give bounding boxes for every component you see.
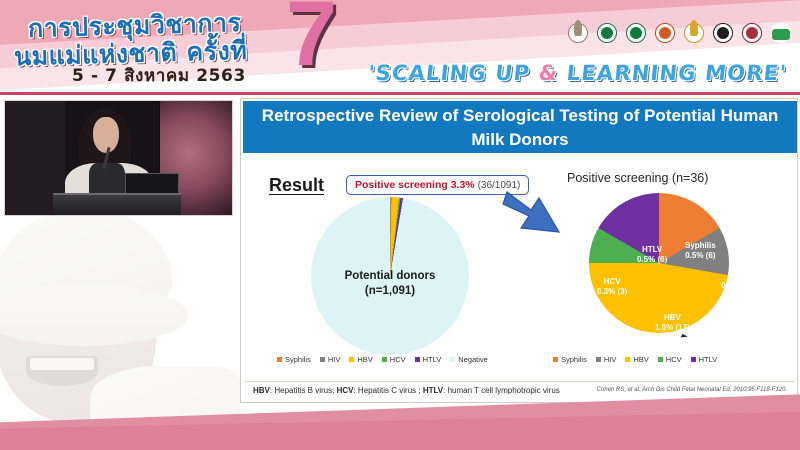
legend-label-hcv-right: HCV: [666, 355, 682, 364]
legend-label-syphilis-right: Syphilis: [561, 355, 587, 364]
ministry-public-health-logo: [595, 23, 619, 51]
slice-label-hiv-value: 0.4% (4): [721, 281, 751, 291]
slide-capture-stage: การประชุมวิชาการ นมแม่แห่งชาติ ครั้งที่ …: [0, 0, 800, 450]
laptop-icon: [125, 173, 179, 195]
legend-label-hbv-right: HBV: [633, 355, 648, 364]
tagline-text-part2: LEARNING MORE': [557, 61, 788, 85]
slice-label-syphilis-value: 0.5% (6): [685, 251, 716, 261]
footnote-htlv-key: HTLV: [423, 386, 443, 395]
sponsor-logo-row: [566, 23, 793, 51]
callout-strong-text: Positive screening 3.3%: [355, 179, 475, 191]
legend-swatch-hbv: [349, 357, 354, 362]
footnote-hbv-key: HBV: [253, 386, 270, 395]
thai-health-sso-logo: [769, 23, 793, 51]
legend-label-hiv-right: HIV: [604, 355, 617, 364]
watermark-mouth: [26, 356, 98, 386]
legend-swatch-negative: [450, 357, 455, 362]
slice-label-htlv: HTLV 0.5% (6): [637, 245, 667, 265]
footnote-abbreviations: HBV: Hepatitis B virus; HCV: Hepatitis C…: [253, 386, 560, 395]
nursing-council-logo: [711, 23, 735, 51]
watermark-hat-brim: [0, 284, 188, 346]
legend-swatch-hcv: [382, 357, 387, 362]
legend-item-hbv-right: HBV: [625, 355, 648, 364]
legend-item-syphilis-right: Syphilis: [553, 355, 587, 364]
breastfeeding-foundation-logo: [740, 23, 764, 51]
slice-label-hiv-name: HIV: [721, 271, 751, 281]
legend-item-htlv-right: HTLV: [691, 355, 718, 364]
positive-screening-pie-graphic: Syphilis 0.5% (6) HIV 0.4% (4) HBV 1.6% …: [589, 193, 729, 333]
positive-screening-legend: Syphilis HIV HBV HCV HTLV: [553, 355, 717, 364]
royal-emblem-logo: [566, 23, 590, 51]
slice-label-hiv: HIV 0.4% (4): [721, 271, 751, 291]
legend-swatch-syphilis-right: [553, 357, 558, 362]
legend-label-hiv: HIV: [328, 355, 341, 364]
potential-donors-pie-chart: Potential donors (n=1,091): [289, 197, 505, 357]
legend-label-hbv: HBV: [357, 355, 372, 364]
legend-swatch-htlv-right: [691, 357, 696, 362]
slice-label-htlv-value: 0.5% (6): [637, 255, 667, 265]
royal-college-logo: [653, 23, 677, 51]
legend-item-hcv: HCV: [382, 355, 406, 364]
slide-citation: Cohen RS, et al. Arch Dis Child Fetal Ne…: [597, 387, 787, 393]
legend-swatch-hcv-right: [658, 357, 663, 362]
legend-item-htlv: HTLV: [415, 355, 442, 364]
footnote-hcv-key: HCV: [337, 386, 354, 395]
blue-down-right-arrow-icon: [499, 186, 563, 238]
legend-label-htlv: HTLV: [423, 355, 442, 364]
legend-label-hcv: HCV: [390, 355, 406, 364]
legend-item-hiv-right: HIV: [596, 355, 617, 364]
legend-swatch-htlv: [415, 357, 420, 362]
conference-header-banner: การประชุมวิชาการ นมแม่แห่งชาติ ครั้งที่ …: [0, 0, 800, 95]
legend-item-hcv-right: HCV: [658, 355, 682, 364]
slice-label-hcv: HCV 0.3% (3): [597, 277, 627, 297]
potential-donors-label-line1: Potential donors: [289, 269, 491, 284]
presentation-slide-panel: Retrospective Review of Serological Test…: [240, 98, 798, 403]
tagline-text-part1: 'SCALING UP: [367, 61, 540, 85]
footnote-hcv-value: : Hepatitis C virus ;: [353, 386, 422, 395]
potential-donors-label-line2: (n=1,091): [289, 284, 491, 299]
presenter-face: [93, 117, 119, 153]
legend-item-hbv: HBV: [349, 355, 372, 364]
pediatric-society-logo: [682, 23, 706, 51]
child-photo-watermark: [0, 196, 244, 426]
legend-label-htlv-right: HTLV: [699, 355, 718, 364]
podium: [53, 193, 181, 216]
conference-edition-number: 7: [286, 0, 337, 80]
legend-item-hiv: HIV: [320, 355, 341, 364]
conference-tagline: 'SCALING UP & LEARNING MORE': [367, 61, 788, 85]
legend-swatch-hbv-right: [625, 357, 630, 362]
legend-item-negative: Negative: [450, 355, 488, 364]
presenter-video-thumbnail[interactable]: [4, 100, 233, 216]
header-bottom-rule: [0, 92, 800, 95]
potential-donors-center-label: Potential donors (n=1,091): [289, 269, 491, 299]
watermark-teeth: [30, 358, 94, 370]
legend-swatch-hiv-right: [596, 357, 601, 362]
slice-label-syphilis: Syphilis 0.5% (6): [685, 241, 716, 261]
slice-label-hcv-value: 0.3% (3): [597, 287, 627, 297]
health-department-logo: [624, 23, 648, 51]
slice-label-hbv-name: HBV: [655, 313, 690, 323]
slice-label-syphilis-name: Syphilis: [685, 241, 716, 251]
slice-label-hcv-name: HCV: [597, 277, 627, 287]
footnote-hbv-value: : Hepatitis B virus;: [270, 386, 337, 395]
positive-screening-pie-title: Positive screening (n=36): [567, 171, 708, 185]
legend-label-negative: Negative: [458, 355, 488, 364]
conference-date-thai: 5 - 7 สิงหาคม 2563: [72, 62, 246, 89]
footnote-htlv-value: : human T cell lymphotropic virus: [443, 386, 560, 395]
mouse-cursor-icon: [681, 334, 692, 342]
legend-label-syphilis: Syphilis: [285, 355, 311, 364]
slice-label-htlv-name: HTLV: [637, 245, 667, 255]
legend-item-syphilis: Syphilis: [277, 355, 311, 364]
result-heading: Result: [269, 175, 324, 196]
positive-screening-pie-chart: Positive screening (n=36) Syphilis 0.5% …: [561, 171, 793, 361]
slice-label-hbv-value: 1.6% (17): [655, 323, 690, 333]
legend-swatch-syphilis: [277, 357, 282, 362]
potential-donors-legend: Syphilis HIV HBV HCV HTLV Negative: [277, 355, 488, 364]
slide-title: Retrospective Review of Serological Test…: [243, 101, 797, 153]
slice-label-hbv: HBV 1.6% (17): [655, 313, 690, 333]
legend-swatch-hiv: [320, 357, 325, 362]
